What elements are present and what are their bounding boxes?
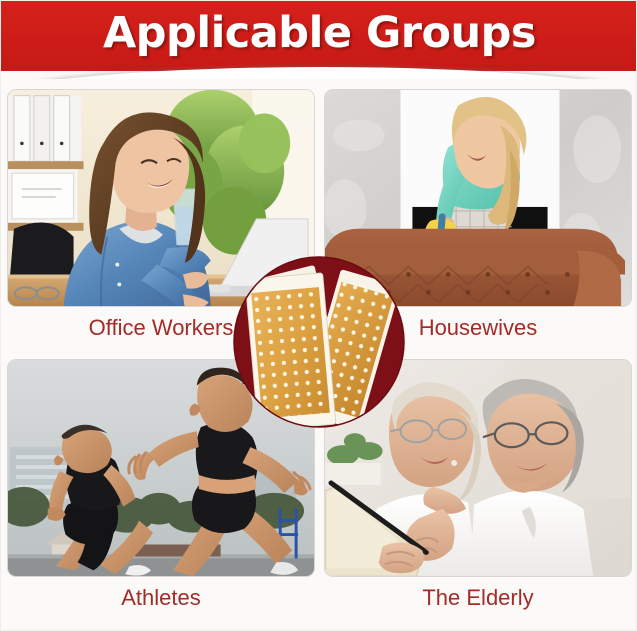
header-banner: Applicable Groups <box>1 1 637 79</box>
infographic-page: Applicable Groups <box>0 0 637 631</box>
product-patches-badge <box>233 256 405 428</box>
group-label-the-elderly: The Elderly <box>324 577 632 619</box>
group-label-athletes: Athletes <box>7 577 315 619</box>
page-title: Applicable Groups <box>1 3 637 63</box>
patches-circle-illustration <box>233 256 405 428</box>
